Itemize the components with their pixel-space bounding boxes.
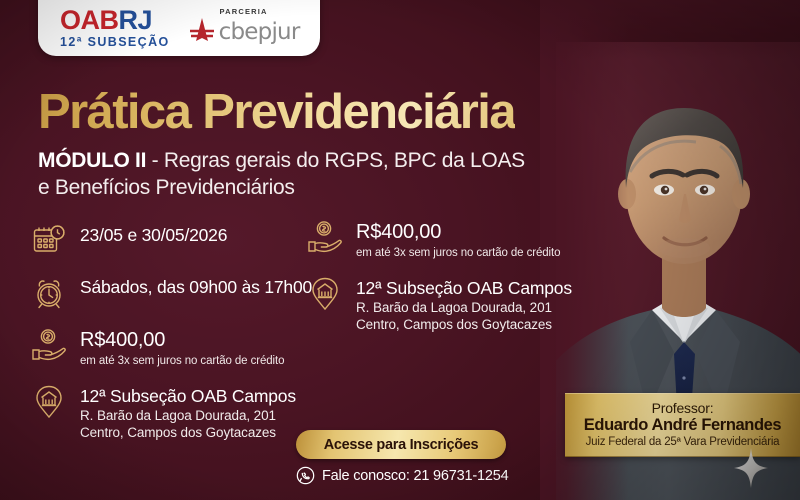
alarm-clock-icon: [30, 274, 68, 312]
poster-subtitle: MÓDULO II - Regras gerais do RGPS, BPC d…: [38, 148, 598, 202]
course-price-installments-secondary: em até 3x sem juros no cartão de crédito: [356, 246, 560, 262]
course-schedule: Sábados, das 09h00 às 17h00: [80, 277, 312, 298]
module-label: MÓDULO II: [38, 149, 146, 172]
enroll-button[interactable]: Acesse para Inscrições: [296, 430, 506, 459]
course-dates: 23/05 e 30/05/2026: [80, 225, 227, 246]
info-text-date: 23/05 e 30/05/2026: [80, 222, 227, 246]
sparkle-icon: [734, 448, 768, 488]
hand-coin-icon: [306, 218, 344, 256]
partner-logo-block: PARCERIA cbepjur: [170, 7, 300, 56]
whatsapp-icon: [296, 466, 315, 485]
info-row-price-secondary: R$400,00 em até 3x sem juros no cartão d…: [306, 218, 571, 261]
partner-brand-row: cbepjur: [188, 17, 300, 47]
calendar-clock-icon: [30, 222, 68, 260]
whatsapp-contact[interactable]: Fale conosco: 21 96731-1254: [296, 466, 508, 485]
poster-title: Prática Previdenciária: [38, 88, 515, 137]
venue-name: 12ª Subseção OAB Campos: [80, 386, 296, 407]
info-text-price-secondary: R$400,00 em até 3x sem juros no cartão d…: [356, 218, 560, 261]
location-pin-building-icon: [30, 383, 68, 421]
venue-address-line1: R. Barão da Lagoa Dourada, 201: [80, 407, 296, 424]
info-text-price: R$400,00 em até 3x sem juros no cartão d…: [80, 326, 284, 369]
header-logo-card: OABRJ 12ª SUBSEÇÃO PARCERIA cbepjur: [38, 0, 320, 56]
whatsapp-phone-text: Fale conosco: 21 96731-1254: [322, 468, 508, 484]
cbepjur-wordmark: cbepjur: [219, 21, 300, 44]
promo-poster: OABRJ 12ª SUBSEÇÃO PARCERIA cbepjur Prát…: [0, 0, 800, 500]
course-price: R$400,00: [80, 329, 284, 353]
venue-address-line2-secondary: Centro, Campos dos Goytacazes: [356, 316, 572, 333]
info-row-location: 12ª Subseção OAB Campos R. Barão da Lago…: [30, 383, 320, 441]
portrait-top-fade: [540, 0, 800, 60]
course-price-installments: em até 3x sem juros no cartão de crédito: [80, 354, 284, 370]
cbep-arrow-icon: [188, 17, 216, 47]
info-row-time: Sábados, das 09h00 às 17h00: [30, 274, 320, 312]
info-column-right: R$400,00 em até 3x sem juros no cartão d…: [306, 218, 571, 347]
info-row-date: 23/05 e 30/05/2026: [30, 222, 320, 260]
oab-text: OAB: [60, 5, 119, 35]
venue-address-line2: Centro, Campos dos Goytacazes: [80, 424, 296, 441]
partner-label: PARCERIA: [188, 7, 300, 16]
professor-name: Eduardo André Fernandes: [584, 416, 781, 436]
module-description-line2: e Benefícios Previdenciários: [38, 176, 295, 199]
info-text-location: 12ª Subseção OAB Campos R. Barão da Lago…: [80, 383, 296, 441]
location-pin-building-icon: [306, 275, 344, 313]
module-description: - Regras gerais do RGPS, BPC da LOAS: [146, 149, 525, 172]
info-row-location-secondary: 12ª Subseção OAB Campos R. Barão da Lago…: [306, 275, 571, 333]
info-column-left: 23/05 e 30/05/2026 Sábados, das 09h00 às…: [30, 222, 320, 455]
course-price-secondary: R$400,00: [356, 221, 560, 245]
info-text-location-secondary: 12ª Subseção OAB Campos R. Barão da Lago…: [356, 275, 572, 333]
oabrj-wordmark: OABRJ: [60, 7, 170, 34]
professor-role-label: Professor:: [652, 401, 714, 416]
hand-coin-icon: [30, 326, 68, 364]
oab-subsection-label: 12ª SUBSEÇÃO: [60, 36, 170, 49]
oabrj-logo: OABRJ 12ª SUBSEÇÃO: [38, 7, 170, 57]
venue-address-line1-secondary: R. Barão da Lagoa Dourada, 201: [356, 299, 572, 316]
enroll-button-label: Acesse para Inscrições: [324, 437, 479, 453]
rj-text: RJ: [119, 5, 153, 35]
info-row-price: R$400,00 em até 3x sem juros no cartão d…: [30, 326, 320, 369]
venue-name-secondary: 12ª Subseção OAB Campos: [356, 278, 572, 299]
info-text-time: Sábados, das 09h00 às 17h00: [80, 274, 312, 298]
